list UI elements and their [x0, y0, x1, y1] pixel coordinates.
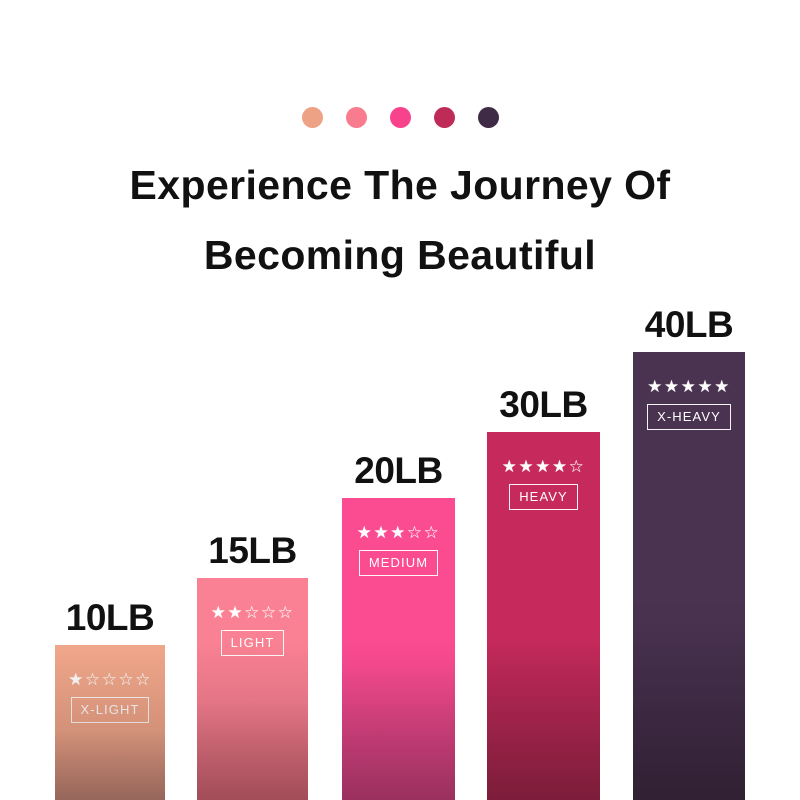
level-badge-40lb: X-HEAVY	[647, 404, 731, 430]
bar-weight-label-40lb: 40LB	[645, 304, 733, 346]
resistance-band-bar-chart: 10LB ★☆☆☆☆ X-LIGHT 15LB ★★☆☆☆ LIGHT 20LB	[0, 0, 800, 800]
bar-group-15lb: 15LB ★★☆☆☆ LIGHT	[197, 578, 308, 800]
bar-shade-15lb	[197, 640, 308, 800]
bar-content-10lb: ★☆☆☆☆ X-LIGHT	[55, 645, 165, 723]
star-rating-15lb: ★★☆☆☆	[211, 604, 295, 621]
star-rating-10lb: ★☆☆☆☆	[68, 671, 152, 688]
bar-shade-20lb	[342, 640, 455, 800]
bar-shade-30lb	[487, 640, 600, 800]
bar-weight-label-10lb: 10LB	[66, 597, 154, 639]
star-rating-20lb: ★★★☆☆	[357, 524, 441, 541]
bar-content-40lb: ★★★★★ X-HEAVY	[633, 352, 745, 430]
bar-10lb[interactable]: ★☆☆☆☆ X-LIGHT	[55, 645, 165, 800]
bar-content-30lb: ★★★★☆ HEAVY	[487, 432, 600, 510]
bar-weight-label-15lb: 15LB	[208, 530, 296, 572]
level-badge-10lb: X-LIGHT	[71, 697, 150, 723]
bar-30lb[interactable]: ★★★★☆ HEAVY	[487, 432, 600, 800]
bar-group-20lb: 20LB ★★★☆☆ MEDIUM	[342, 498, 455, 800]
bar-content-20lb: ★★★☆☆ MEDIUM	[342, 498, 455, 576]
level-badge-15lb: LIGHT	[221, 630, 285, 656]
bar-20lb[interactable]: ★★★☆☆ MEDIUM	[342, 498, 455, 800]
bar-weight-label-30lb: 30LB	[499, 384, 587, 426]
bar-content-15lb: ★★☆☆☆ LIGHT	[197, 578, 308, 656]
bar-40lb[interactable]: ★★★★★ X-HEAVY	[633, 352, 745, 800]
bar-group-40lb: 40LB ★★★★★ X-HEAVY	[633, 352, 745, 800]
level-badge-30lb: HEAVY	[509, 484, 578, 510]
star-rating-40lb: ★★★★★	[647, 378, 731, 395]
star-rating-30lb: ★★★★☆	[502, 458, 586, 475]
bar-group-10lb: 10LB ★☆☆☆☆ X-LIGHT	[55, 645, 165, 800]
bar-shade-40lb	[633, 640, 745, 800]
poster-canvas: Experience The Journey Of Becoming Beaut…	[0, 0, 800, 800]
bar-group-30lb: 30LB ★★★★☆ HEAVY	[487, 432, 600, 800]
level-badge-20lb: MEDIUM	[359, 550, 438, 576]
bar-weight-label-20lb: 20LB	[354, 450, 442, 492]
bar-15lb[interactable]: ★★☆☆☆ LIGHT	[197, 578, 308, 800]
